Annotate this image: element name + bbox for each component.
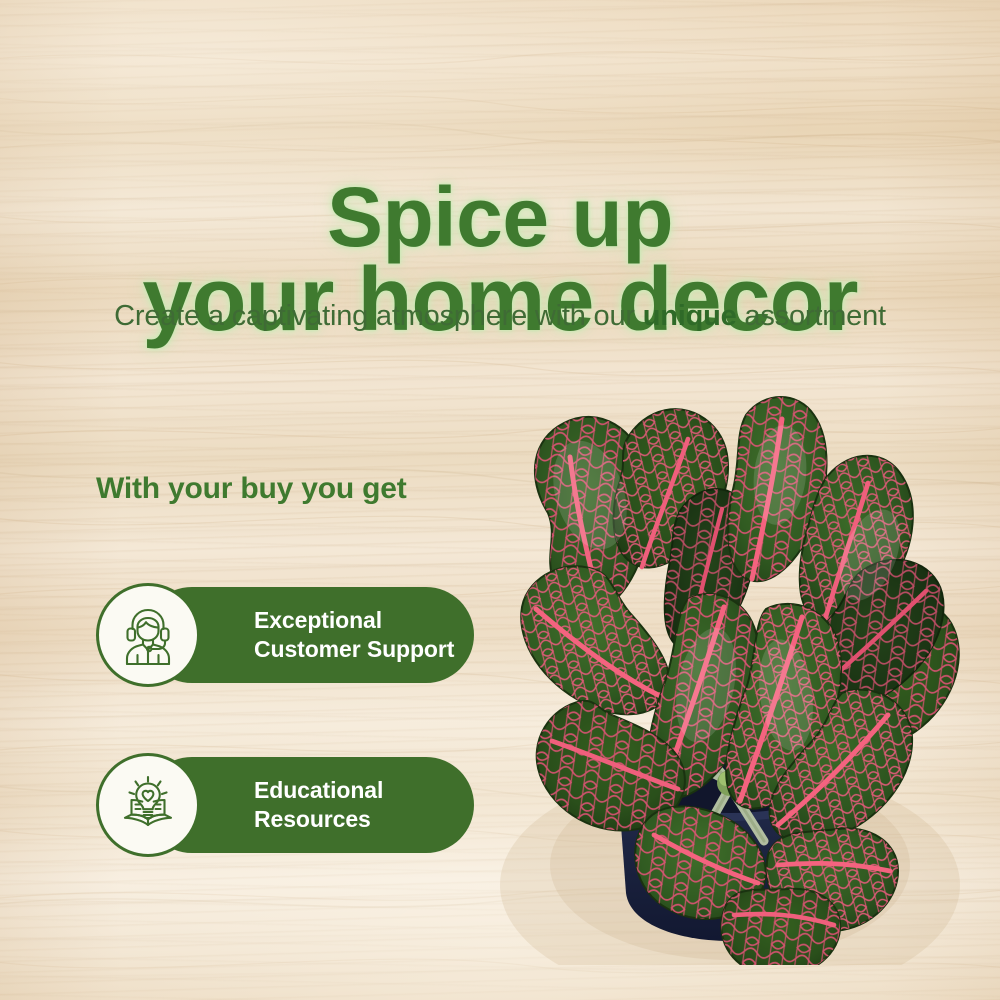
benefit-item-educational-resources[interactable]: EducationalResources [96, 753, 474, 857]
subtitle-emphasis: unique [643, 300, 737, 332]
headset-support-agent-icon [115, 602, 181, 668]
subtitle-before: Create a captivating atmosphere with our [114, 300, 643, 332]
open-book-lightbulb-heart-icon [114, 771, 182, 839]
promo-banner: Spice up your home decor Create a captiv… [0, 0, 1000, 1000]
benefit-label: EducationalResources [254, 776, 383, 835]
subtitle: Create a captivating atmosphere with our… [0, 300, 1000, 333]
page-title: Spice up your home decor [0, 96, 1000, 424]
benefit-icon-circle [96, 583, 200, 687]
benefit-label: ExceptionalCustomer Support [254, 606, 454, 665]
benefit-label-line-1: Exceptional [254, 607, 382, 633]
benefit-label-line-2: Customer Support [254, 636, 454, 662]
benefit-label-line-1: Educational [254, 777, 383, 803]
benefit-label-line-2: Resources [254, 806, 371, 832]
benefit-icon-circle [96, 753, 200, 857]
subtitle-after: assortment [737, 300, 886, 332]
benefits-heading: With your buy you get [96, 472, 407, 506]
benefit-item-customer-support[interactable]: ExceptionalCustomer Support [96, 583, 474, 687]
